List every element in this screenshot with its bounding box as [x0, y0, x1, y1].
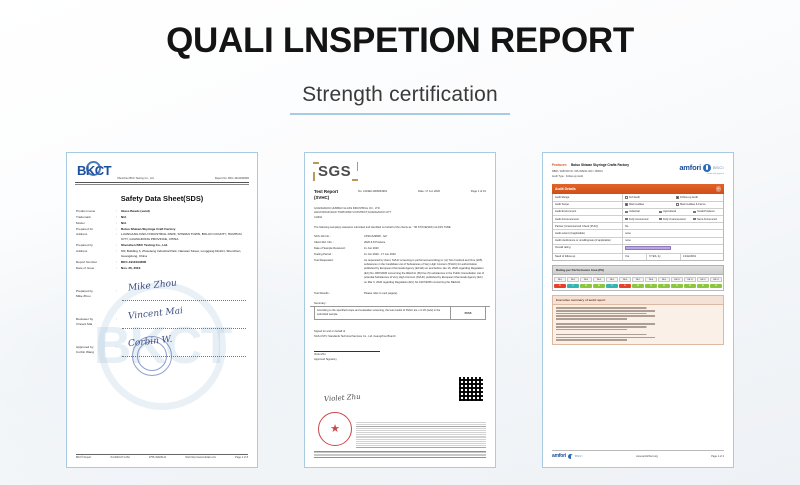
checkbox-icon[interactable] [676, 203, 679, 206]
pa-cell: B [671, 282, 683, 288]
row-label: Audit Scope [553, 202, 623, 208]
pa-rating: D [554, 284, 566, 288]
producer-audit-type: Audit Type : Follow-up Audit [552, 175, 679, 179]
checkbox-icon-checked[interactable] [625, 203, 628, 206]
sds-page: BKCT BKCT Shenzhen BKC Testing Co., Ltd.… [72, 158, 252, 462]
row-label: Audit extent (if applicable) [553, 230, 623, 236]
table-row: Address : LUANGANG DAFU INDUSTRIAL PARK,… [72, 232, 252, 243]
amfori-logo-text: amfori [679, 163, 701, 172]
pa-rating: B [632, 284, 644, 288]
pa-rating: B [710, 284, 722, 288]
pa-cell: B [580, 282, 592, 288]
sgs-logo-mark-left [313, 172, 315, 181]
signature-row: Approved by Corbin Wang : Corbin W. [76, 336, 248, 364]
footer-row: BKC® Report Tel:4000-671-262 0755-329231… [76, 456, 248, 459]
pa-rating: B [697, 284, 709, 288]
amfori-logo: amfori BSCI [679, 163, 724, 172]
field-label: Prepared by [76, 243, 116, 248]
table-row: Audit interference or unwillingness (if … [553, 237, 723, 244]
checkbox-icon[interactable] [693, 218, 696, 221]
row-label: Audit Environment [553, 209, 623, 215]
audit-details-section-header: Audit Details − [552, 184, 724, 195]
collapse-icon[interactable]: − [716, 186, 722, 192]
pa-rating: C [606, 284, 618, 288]
summary-line [556, 326, 708, 328]
signature-name: Mike Zhou [76, 294, 93, 299]
sds-header: BKCT Shenzhen BKC Testing Co., Ltd. Repo… [72, 158, 252, 180]
field-label: Date of Sample Received : [314, 247, 364, 251]
signature-label: Approved by Corbin Wang [76, 345, 94, 354]
checkbox-option[interactable]: Fully Announced [625, 218, 653, 221]
field-label: Test Results : [314, 292, 364, 296]
table-row: Audit Scope Main Auditee Main Auditee & … [553, 201, 723, 208]
pa-cell: B [697, 282, 709, 288]
signature-name: Vincent Mai [76, 322, 93, 327]
footer-web: Web:http://www.bkclab.com [185, 456, 216, 459]
amfori-logo-block: amfori BSCI Trade with purpose [679, 163, 724, 175]
field-value: 6/F, Building 3, Zhoudeng Industrial Par… [121, 249, 248, 259]
checkbox-icon-checked[interactable] [625, 218, 628, 221]
pa-cell: B [645, 282, 657, 288]
sds-header-meta-row: Shenzhen BKC Testing Co., Ltd. Report No… [117, 177, 249, 180]
amfori-page: Producer: Boluo Shiwan Skyringe Crafts F… [548, 158, 728, 462]
summary-line [556, 310, 721, 312]
row-value: none [623, 238, 723, 244]
checkbox-icon-checked[interactable] [625, 211, 628, 214]
table-row: Prepared by : Shenzhen BKC Testing Co., … [72, 243, 252, 249]
row-options: Main Auditee Main Auditee & Farms [623, 202, 723, 208]
producer-row: Producer: Boluo Shiwan Skyringe Crafts F… [552, 163, 679, 168]
sds-header-rule-2 [75, 184, 249, 185]
field-value: Nov. 26, 2019 [121, 266, 248, 271]
sds-header-meta: Shenzhen BKC Testing Co., Ltd. Report No… [111, 177, 249, 180]
checkbox-option[interactable]: Follow-up Audit [676, 196, 721, 199]
document-card-amfori[interactable]: Producer: Boluo Shiwan Skyringe Crafts F… [542, 152, 734, 468]
checkbox-icon[interactable] [659, 211, 662, 214]
amfori-logo-suffix: BSCI [575, 455, 583, 458]
sgs-logo-text: SGS [318, 163, 351, 180]
amfori-footer-logo: amfori BSCI [552, 453, 583, 459]
sgs-footer-bar [314, 451, 486, 459]
summary-line [556, 339, 675, 341]
row-options: Industrial Agricultural Small Producer [623, 209, 723, 215]
checkbox-icon[interactable] [693, 211, 696, 214]
summary-line [556, 337, 721, 339]
checkbox-label: Main Auditee [629, 203, 644, 206]
table-row: Address : 6/F, Building 3, Zhoudeng Indu… [72, 249, 252, 260]
signature-colon: : [116, 345, 117, 349]
checkbox-option[interactable]: Small Producer [693, 210, 721, 213]
sgs-summary-text: According to the specified scope and eva… [315, 307, 451, 319]
pa-cell: B [710, 282, 722, 288]
pa-cell: C [606, 282, 618, 288]
checkbox-label: Fully Unannounced [663, 218, 685, 221]
field-label: Address [76, 232, 116, 242]
amfori-producer-block: Producer: Boluo Shiwan Skyringe Crafts F… [552, 163, 679, 179]
field-label: Prepared for [76, 227, 116, 232]
executive-summary-header: Executive summary of audit report [552, 295, 724, 305]
field-label: Client Ref. Info. : [314, 241, 364, 245]
field-label: Address [76, 249, 116, 259]
pa-rating: B [645, 284, 657, 288]
summary-line [556, 315, 721, 317]
sgs-date: Date: 17 Jun 2020 [418, 190, 440, 202]
signature-label: Prepared by Mike Zhou [76, 289, 93, 298]
field-value: BKC-191103460R [121, 260, 248, 265]
pa-cell: D [554, 282, 566, 288]
document-gallery: BKCT BKCT Shenzhen BKC Testing Co., Ltd.… [0, 152, 800, 470]
table-row: Audit Environment Industrial Agricultura… [553, 208, 723, 215]
field-label: Testing Period : [314, 253, 364, 257]
checkbox-option[interactable]: Full Audit [625, 196, 670, 199]
table-row: Test Requested : As requested by client,… [310, 258, 490, 287]
checkbox-label: Fully Announced [629, 218, 648, 221]
field-value: CP20-029828 - GZ [364, 235, 486, 239]
qr-code-icon [458, 376, 484, 402]
sgs-signature-ink: Violet Zhu [324, 393, 361, 404]
summary-line [556, 329, 675, 331]
checkbox-label: Follow-up Audit [680, 196, 698, 199]
field-value: As requested by client, SVHC screening i… [364, 259, 486, 286]
sds-report-no: Report No. BKC-191103460R [215, 177, 249, 180]
producer-name: Boluo Shiwan Skyringe Crafts Factory [571, 163, 629, 168]
sds-field-list: Product name : Glass Beads (sand) Tradem… [72, 208, 252, 271]
sgs-report-no: No. CANEC1906034961 [358, 190, 387, 202]
field-label: Report Number [76, 260, 116, 265]
signature-colon: : [116, 289, 117, 293]
bkct-logo-ring [86, 161, 101, 176]
field-label: Date of Issue [76, 266, 116, 271]
sds-header-rule [75, 182, 249, 183]
checkbox-option[interactable]: Semi Announced [693, 218, 721, 221]
pa-section-header: Rating per Performance Area (PA) [552, 265, 724, 275]
amfori-logo-icon [703, 164, 711, 172]
table-row: Partner (Unannounced Check (PUC)) No [553, 222, 723, 229]
pa-rating: D [619, 284, 631, 288]
field-value: N/A [121, 215, 248, 220]
pa-rating-grid: PA 1 PA 2 PA 3 PA 4 PA 5 PA 6 PA 7 PA 8 … [552, 275, 724, 291]
checkbox-label: Small Producer [697, 210, 715, 213]
checkbox-option[interactable]: Main Auditee [625, 203, 670, 206]
amfori-footer: amfori BSCI www.amforibsci.org Page 1 of… [552, 450, 724, 460]
document-card-sds[interactable]: BKCT BKCT Shenzhen BKC Testing Co., Ltd.… [66, 152, 258, 468]
amfori-logo-suffix: BSCI [713, 165, 724, 170]
table-row: Audit Announcement Fully Announced Fully… [553, 215, 723, 222]
summary-line [556, 334, 708, 336]
field-value: Glass Beads (sand) [121, 209, 248, 214]
footer-page: Page 1 of 8 [235, 456, 248, 459]
pa-value-row: D C B B C D B B B B B B B [554, 282, 722, 288]
row-label: Audit Announcement [553, 216, 623, 222]
field-value: LUANGANG DAFU INDUSTRIAL PARK, SHIWAN TO… [121, 232, 248, 242]
bkct-logo: BKCT [75, 161, 111, 180]
signature-line [122, 328, 246, 329]
checkbox-icon[interactable] [625, 196, 628, 199]
pa-rating: B [671, 284, 683, 288]
signature-colon: : [116, 317, 117, 321]
row-value [623, 245, 723, 253]
table-row: Model : N/A [72, 220, 252, 226]
row-label: Need of follow-up [553, 254, 623, 260]
table-row: Audit extent (if applicable) none [553, 229, 723, 236]
row-options: Full Audit Follow-up Audit [623, 194, 723, 200]
row-label: Overall rating [553, 245, 623, 253]
page-subtitle: Strength certification [290, 83, 510, 113]
field-label: Model [76, 221, 116, 226]
checkbox-label: Semi Announced [697, 218, 717, 221]
row-value-2: 13/12/2019 [681, 254, 723, 260]
signature-row: Reviewer by Vincent Mai : Vincent Mai [76, 308, 248, 336]
signature-line [122, 300, 246, 301]
document-card-sgs[interactable]: SGS Test Report (SVHC) No. CANEC19060349… [304, 152, 496, 468]
signature-ink: Mike Zhou [128, 279, 178, 294]
sgs-client-address: GUANGZHOU HUNBAO GLASS INDUSTRIAL CO., L… [310, 202, 490, 220]
amfori-logo-text: amfori [552, 453, 566, 459]
signature-ink: Vincent Mai [128, 306, 184, 322]
status-badge: PASS [451, 307, 485, 319]
sgs-signature-line [314, 351, 380, 352]
checkbox-icon-checked[interactable] [676, 196, 679, 199]
star-icon: ★ [330, 424, 340, 435]
table-row: Audit Range Full Audit Follow-up Audit [553, 194, 723, 200]
sgs-subtitle: (SVHC) [314, 195, 358, 201]
footer-phone: Tel:4000-671-262 [110, 456, 129, 459]
summary-line [556, 313, 708, 315]
sgs-field-list: SGS Job No. : CP20-029828 - GZ Client Re… [310, 234, 490, 286]
sgs-logo-mark-topleft [313, 162, 319, 164]
footer-page: Page 1 of 2 [711, 455, 724, 458]
pa-rating: B [684, 284, 696, 288]
pa-cell: B [632, 282, 644, 288]
sgs-signature-role: Approved Signatory [310, 358, 490, 362]
checkbox-option[interactable]: Agricultural [659, 210, 687, 213]
footer-rule [76, 454, 248, 455]
certificate-banner: QUALI LNSPETION REPORT Strength certific… [0, 0, 800, 485]
footer-left: BKC® Report [76, 456, 91, 459]
amfori-logo-icon [568, 454, 573, 459]
amfori-tagline: Trade with purpose [679, 173, 724, 175]
summary-line [556, 318, 675, 320]
sds-title: Safety Data Sheet(SDS) [72, 194, 252, 203]
signature-row: Prepared by Mike Zhou : Mike Zhou [76, 280, 248, 308]
sgs-intro: The following sample(s) was/were submitt… [310, 220, 490, 230]
field-value: 2020.6.8 Produce [364, 241, 486, 245]
signature-label: Reviewer by Vincent Mai [76, 317, 93, 326]
executive-summary-body [552, 305, 724, 346]
checkbox-option[interactable]: Industrial [625, 210, 653, 213]
row-label: Partner (Unannounced Check (PUC)) [553, 223, 623, 229]
sgs-result-table: According to the specified scope and eva… [314, 307, 486, 320]
producer-label: Producer: [552, 163, 567, 168]
pa-cell: B [658, 282, 670, 288]
table-row: Trademark : N/A [72, 214, 252, 220]
checkbox-label: Industrial [629, 210, 640, 213]
row-options: Fully Announced Fully Unannounced Semi A… [623, 216, 723, 222]
checkbox-label: Main Auditee & Farms [680, 203, 706, 206]
sgs-logo-mark-right [357, 162, 359, 171]
pa-rating: B [580, 284, 592, 288]
row-value: none [623, 230, 723, 236]
field-label: Product name [76, 209, 116, 214]
pa-rating: B [658, 284, 670, 288]
field-value: Shenzhen BKC Testing Co., Ltd. [121, 243, 248, 248]
pa-rating: C [567, 284, 579, 288]
footer-fax: 0755-32923141 [149, 456, 167, 459]
sgs-page: Page 1 of 16 [471, 190, 486, 202]
pa-cell: D [619, 282, 631, 288]
pa-rating: B [593, 284, 605, 288]
footer-url: www.amforibsci.org [636, 455, 658, 458]
sds-issuer: Shenzhen BKC Testing Co., Ltd. [117, 177, 154, 180]
field-value: N/A [121, 221, 248, 226]
followup-row: Need of follow-up Yes If YES, by 13/12/2… [553, 253, 723, 260]
sgs-title-block: Test Report (SVHC) [314, 189, 358, 202]
official-red-stamp: ★ [318, 412, 352, 446]
summary-line [556, 307, 708, 309]
checkbox-icon[interactable] [659, 218, 662, 221]
producer-meta: DBID / AMFORI ID: 156-028211-000 / 15600… [552, 170, 679, 179]
sds-signature-block: Prepared by Mike Zhou : Mike Zhou Review… [72, 280, 252, 364]
signature-name: Corbin Wang [76, 350, 94, 355]
sgs-logo: SGS [313, 161, 358, 182]
field-label: Test Requested : [314, 259, 364, 286]
table-row: Product name : Glass Beads (sand) [72, 208, 252, 214]
audit-details-table: Audit Range Full Audit Follow-up Audit [552, 194, 724, 260]
section-title: Audit Details [555, 187, 576, 191]
field-value: 11 Jun 2020 [364, 247, 486, 251]
overall-rating-row: Overall rating [553, 244, 723, 253]
field-label: Trademark [76, 215, 116, 220]
amfori-header: Producer: Boluo Shiwan Skyringe Crafts F… [548, 158, 728, 179]
checkbox-option[interactable]: Fully Unannounced [659, 218, 687, 221]
pa-cell: C [567, 282, 579, 288]
sgs-header-meta: No. CANEC1906034961 Date: 17 Jun 2020 Pa… [358, 189, 486, 202]
checkbox-label: Full Audit [629, 196, 640, 199]
row-value: Yes [623, 254, 647, 260]
row-label: Audit interference or unwillingness (if … [553, 238, 623, 244]
field-value: 11 Jun 2020 - 17 Jun 2020 [364, 253, 486, 257]
signature-line [122, 356, 246, 357]
banner-header: QUALI LNSPETION REPORT Strength certific… [0, 0, 800, 115]
field-value: Boluo Shiwan Skyringe Craft Factory [121, 227, 248, 232]
checkbox-label: Agricultural [663, 210, 676, 213]
checkbox-option[interactable]: Main Auditee & Farms [676, 203, 721, 206]
signed-line: SGS-CSTC Standards Technical Services Co… [314, 335, 486, 339]
table-row: Prepared for : Boluo Shiwan Skyringe Cra… [72, 226, 252, 232]
row-label: Audit Range [553, 194, 623, 200]
sgs-signed-for: Signed for and on behalf of SGS-CSTC Sta… [310, 320, 490, 339]
page-title: QUALI LNSPETION REPORT [0, 22, 800, 61]
sgs-summary-label: Summary : [310, 297, 490, 307]
subtitle-block: Strength certification [290, 83, 510, 115]
sgs-fineprint [356, 422, 486, 448]
field-value: Please refer to next page(s). [364, 292, 486, 296]
subtitle-underline [290, 113, 510, 115]
field-label: SGS Job No. : [314, 235, 364, 239]
sgs-logo-mark-bottomright [352, 179, 358, 181]
table-row: Report Number : BKC-191103460R [72, 259, 252, 265]
sds-footer: BKC® Report Tel:4000-671-262 0755-329231… [76, 454, 248, 460]
table-row: Date of Issue : Nov. 26, 2019 [72, 265, 252, 271]
overall-rating-chip [625, 246, 671, 250]
summary-line [556, 323, 721, 325]
pa-cell: B [684, 282, 696, 288]
sgs-page: SGS Test Report (SVHC) No. CANEC19060349… [310, 158, 490, 462]
row-label-2: If YES, by [647, 254, 681, 260]
row-value: No [623, 223, 723, 229]
pa-cell: B [593, 282, 605, 288]
sgs-header: Test Report (SVHC) No. CANEC1906034961 D… [310, 182, 490, 202]
